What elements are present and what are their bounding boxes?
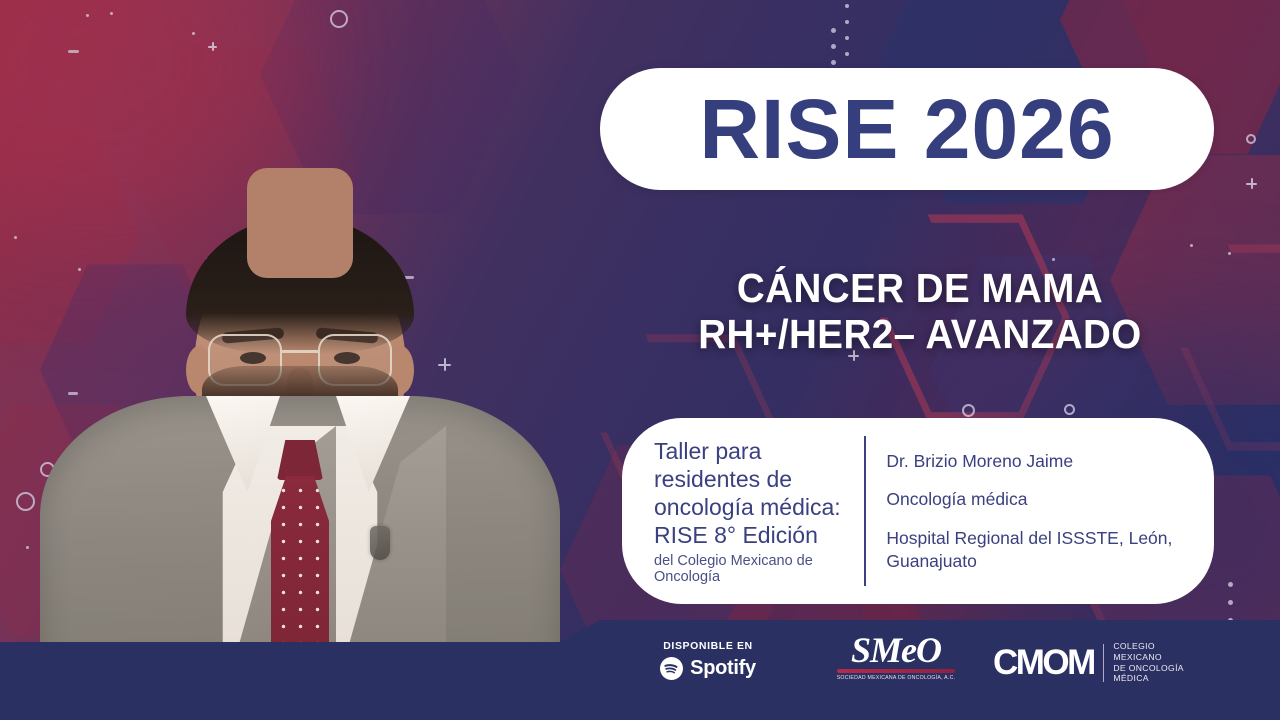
smeo-logo: SMeO SOCIEDAD MEXICANA DE ONCOLOGÍA, A.C…	[832, 632, 960, 681]
smeo-wordmark: SMeO	[832, 632, 960, 668]
decor-dot	[1228, 252, 1231, 255]
cmom-subtitle-line-1: COLEGIO	[1113, 641, 1184, 652]
decor-circle	[962, 404, 975, 417]
spotify-wordmark: Spotify	[690, 657, 756, 680]
speaker-info: Dr. Brizio Moreno Jaime Oncología médica…	[886, 450, 1214, 573]
workshop-subheading: del Colegio Mexicano de Oncología	[654, 553, 850, 585]
lapel-pin-icon	[370, 526, 390, 560]
card-divider	[864, 436, 867, 586]
cmom-divider	[1103, 644, 1105, 682]
workshop-info: Taller para residentes de oncología médi…	[622, 437, 858, 585]
cmom-subtitle-line-4: MÉDICA	[1113, 673, 1184, 684]
speaker-name: Dr. Brizio Moreno Jaime	[886, 450, 1214, 473]
promo-slide: RISE 2026 CÁNCER DE MAMA RH+/HER2– AVANZ…	[0, 0, 1280, 720]
smeo-subtitle: SOCIEDAD MEXICANA DE ONCOLOGÍA, A.C.	[832, 675, 960, 681]
subtitle-line-1: CÁNCER DE MAMA	[638, 266, 1202, 312]
event-title-pill: RISE 2026	[600, 68, 1214, 190]
speaker-speciality: Oncología médica	[886, 488, 1214, 511]
cmom-logo: CMOM COLEGIO MEXICANO DE ONCOLOGÍA MÉDIC…	[993, 641, 1184, 684]
decor-circle	[1064, 404, 1075, 415]
speaker-affiliation: Hospital Regional del ISSSTE, León, Guan…	[886, 527, 1214, 573]
cmom-wordmark: CMOM	[993, 645, 1094, 680]
decor-dot	[1190, 244, 1193, 247]
cmom-subtitle-line-3: DE ONCOLOGÍA	[1113, 663, 1184, 674]
spotify-icon	[660, 657, 683, 680]
spotify-badge[interactable]: DISPONIBLE EN Spotify	[648, 640, 768, 680]
page-title: RISE 2026	[699, 87, 1114, 171]
decor-dot	[1052, 258, 1055, 261]
spotify-caption: DISPONIBLE EN	[648, 640, 768, 652]
topic-subtitle: CÁNCER DE MAMA RH+/HER2– AVANZADO	[638, 266, 1202, 358]
decor-plus	[1246, 178, 1257, 189]
workshop-heading: Taller para residentes de oncología médi…	[654, 437, 850, 549]
subtitle-line-2: RH+/HER2– AVANZADO	[638, 312, 1202, 358]
presenter-photo	[0, 0, 620, 720]
decor-circle	[1246, 134, 1256, 144]
session-info-card: Taller para residentes de oncología médi…	[622, 418, 1214, 604]
cmom-subtitle-line-2: MEXICANO	[1113, 652, 1184, 663]
neck	[247, 168, 353, 278]
cmom-subtitle: COLEGIO MEXICANO DE ONCOLOGÍA MÉDICA	[1113, 641, 1184, 684]
